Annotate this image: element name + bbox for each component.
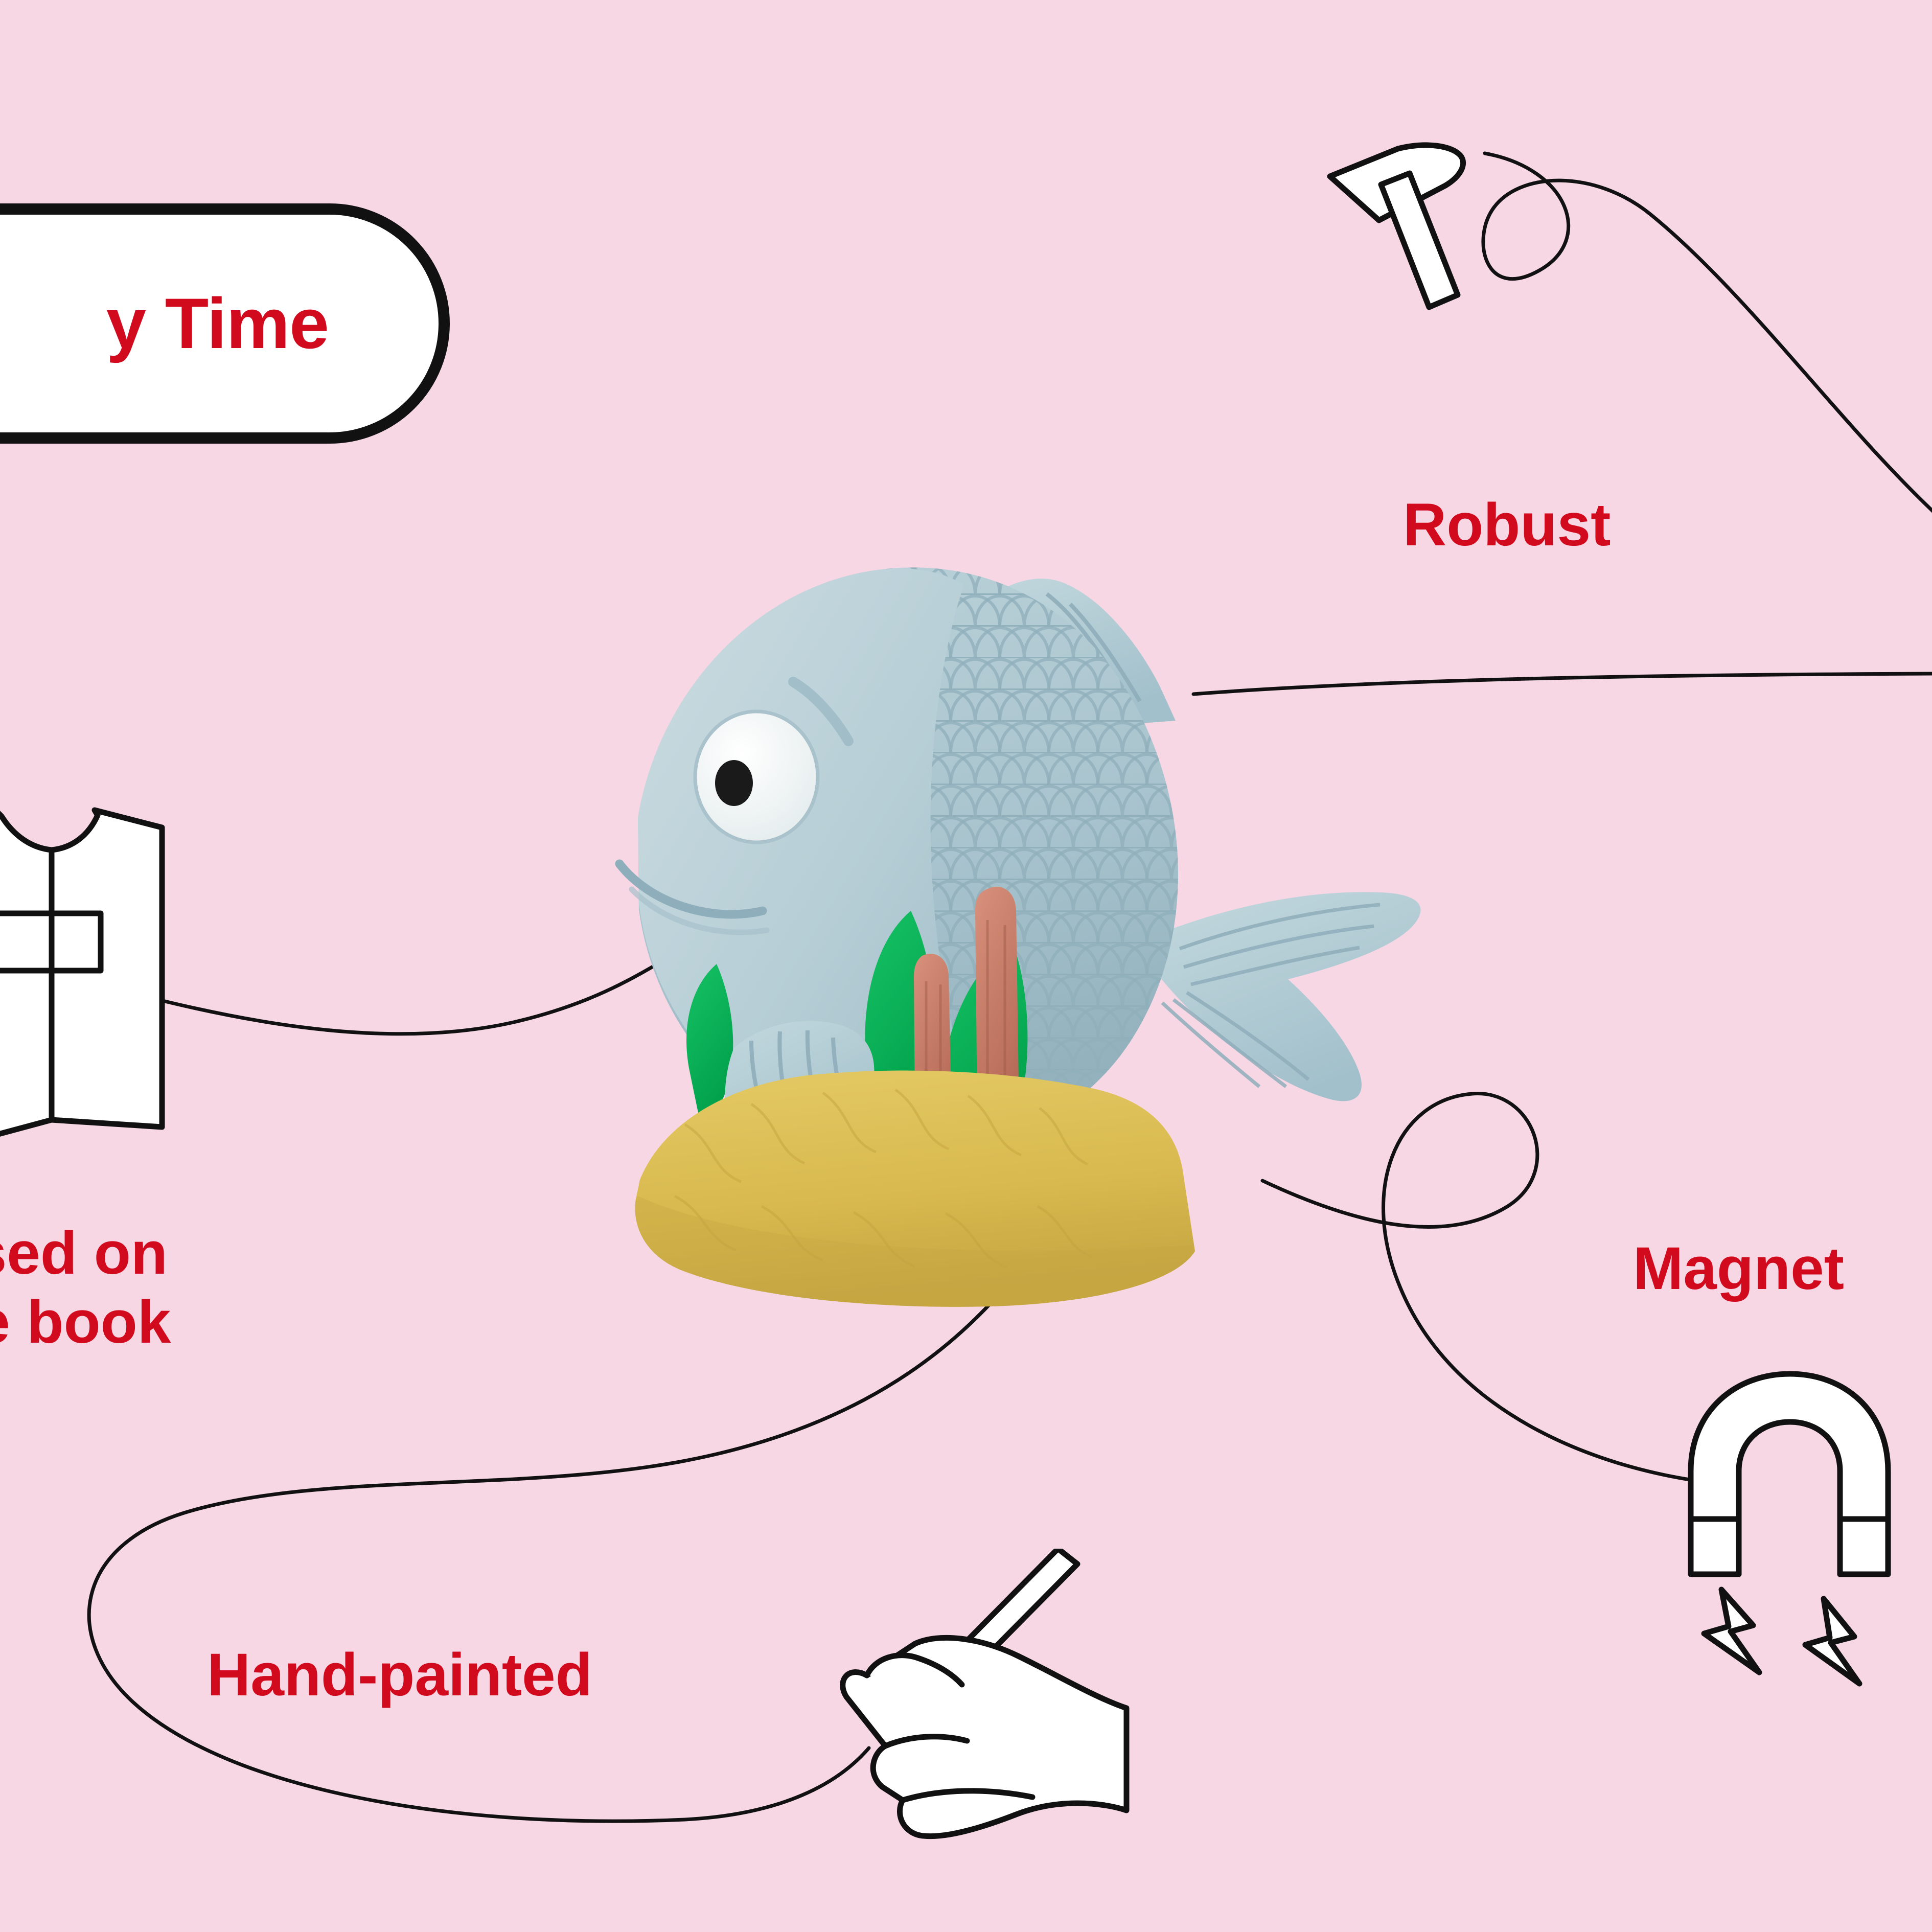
figurine-base-sand [635, 1071, 1195, 1307]
infographic-canvas: y Time [0, 0, 1932, 1932]
book-left-page [0, 812, 52, 1153]
badge-label: y Time [106, 288, 329, 359]
feature-label-magnetic: Magnet [1633, 1234, 1844, 1303]
magnet-spark-left [1704, 1590, 1759, 1672]
hand-with-paintbrush-icon [818, 1549, 1196, 1906]
magnet-pole-right [1840, 1519, 1888, 1574]
open-book-icon [0, 795, 171, 1173]
fish-eye-pupil [715, 760, 753, 806]
fish-eye-white [695, 711, 818, 842]
magnet-icon [1682, 1370, 1906, 1697]
hammer-handle [1381, 173, 1458, 307]
story-time-badge[interactable]: y Time [0, 203, 450, 444]
magnet-pole-left [1691, 1519, 1739, 1574]
hammer-icon [1324, 135, 1584, 422]
feature-label-hand-painted: Hand-painted [207, 1641, 592, 1710]
feature-label-based-on-the-book: ased on he book [0, 1219, 171, 1356]
magnet-spark-right [1805, 1599, 1859, 1684]
feature-label-robust: Robust [1403, 491, 1611, 560]
product-photo-fish-figurine [583, 532, 1584, 1329]
fish-tail [1155, 892, 1420, 1101]
magnet-horseshoe [1691, 1374, 1888, 1519]
